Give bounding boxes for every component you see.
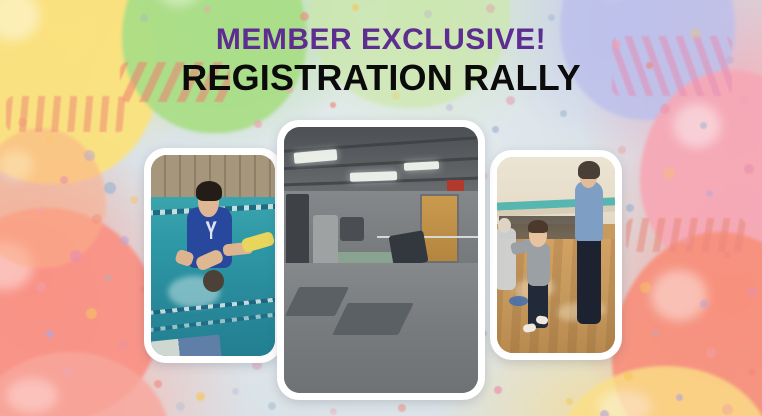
confetti-dot [204,6,211,13]
confetti-dot [60,176,68,184]
confetti-dot [486,4,495,13]
background-adult-body [497,228,516,291]
confetti-dot [104,274,112,282]
confetti-dot [62,366,74,378]
confetti-dot [700,122,707,129]
promo-banner: MEMBER EXCLUSIVE! REGISTRATION RALLY [0,0,762,416]
instructor-hair [578,161,599,179]
confetti-dot [626,204,634,212]
headline-line-2: REGISTRATION RALLY [0,58,762,98]
photo-card-toddler-program [490,150,622,360]
streamer-right [626,218,746,252]
confetti-dot [398,404,406,412]
photo-card-swim-lesson [144,148,282,363]
confetti-dot [268,402,276,410]
confetti-dot [176,402,185,411]
confetti-dot [706,190,713,197]
photo-toddler-program [497,157,615,353]
confetti-dot [330,408,337,415]
confetti-dot [352,4,359,11]
photo-swim-lesson [151,155,275,356]
equipment-rack [286,194,309,268]
confetti-dot [560,110,567,117]
confetti-dot [18,118,27,127]
confetti-dot [330,102,336,108]
confetti-dot [120,236,129,245]
confetti-dot [706,348,716,358]
confetti-dot [682,236,691,245]
confetti-dot [640,282,651,293]
instructor-fleece-jacket [575,181,603,242]
confetti-dot [154,380,162,388]
confetti-dot [492,126,499,133]
confetti-dot [600,410,609,416]
confetti-dot [722,404,733,415]
confetti-dot [618,146,626,154]
confetti-dot [254,120,262,128]
confetti-dot [300,12,309,21]
confetti-dot [676,394,683,401]
confetti-dot [424,10,432,18]
dumbbell-rack [340,217,363,241]
confetti-dot [104,182,116,194]
confetti-dot [38,206,45,213]
confetti-dot [70,250,82,262]
headline-block: MEMBER EXCLUSIVE! REGISTRATION RALLY [0,24,762,98]
confetti-dot [84,150,95,161]
confetti-dot [744,164,754,174]
confetti-dot [46,136,53,143]
instructor-hair [196,181,222,201]
instructor-legs [577,237,601,323]
confetti-dot [36,282,46,292]
confetti-dot [624,372,633,381]
confetti-dot [130,196,138,204]
toddler-shoe-right [535,315,548,324]
confetti-dot [664,168,675,179]
confetti-dot [700,300,708,308]
confetti-dot [494,386,502,394]
confetti-dot [118,340,128,350]
headline-line-1: MEMBER EXCLUSIVE! [0,24,762,56]
confetti-dot [140,14,148,22]
confetti-dot [92,214,102,224]
confetti-dot [196,392,205,401]
confetti-dot [46,330,54,338]
confetti-dot [548,14,555,21]
confetti-dot [652,330,659,337]
confetti-dot [660,104,670,114]
floor-marker-spot [509,296,528,306]
confetti-dot [232,388,239,395]
toddler-sweatshirt [527,243,551,286]
confetti-dot [724,252,731,259]
photo-card-fitness-class [277,120,485,400]
confetti-dot [748,368,756,376]
swimmer-head [203,270,224,292]
exit-sign [447,180,464,191]
confetti-dot [86,308,97,319]
confetti-dot [566,398,573,405]
ceiling-light-3 [404,161,439,171]
confetti-dot [748,288,757,297]
photo-fitness-class [284,127,478,393]
toddler-hair [528,220,548,234]
confetti-dot [446,104,453,111]
